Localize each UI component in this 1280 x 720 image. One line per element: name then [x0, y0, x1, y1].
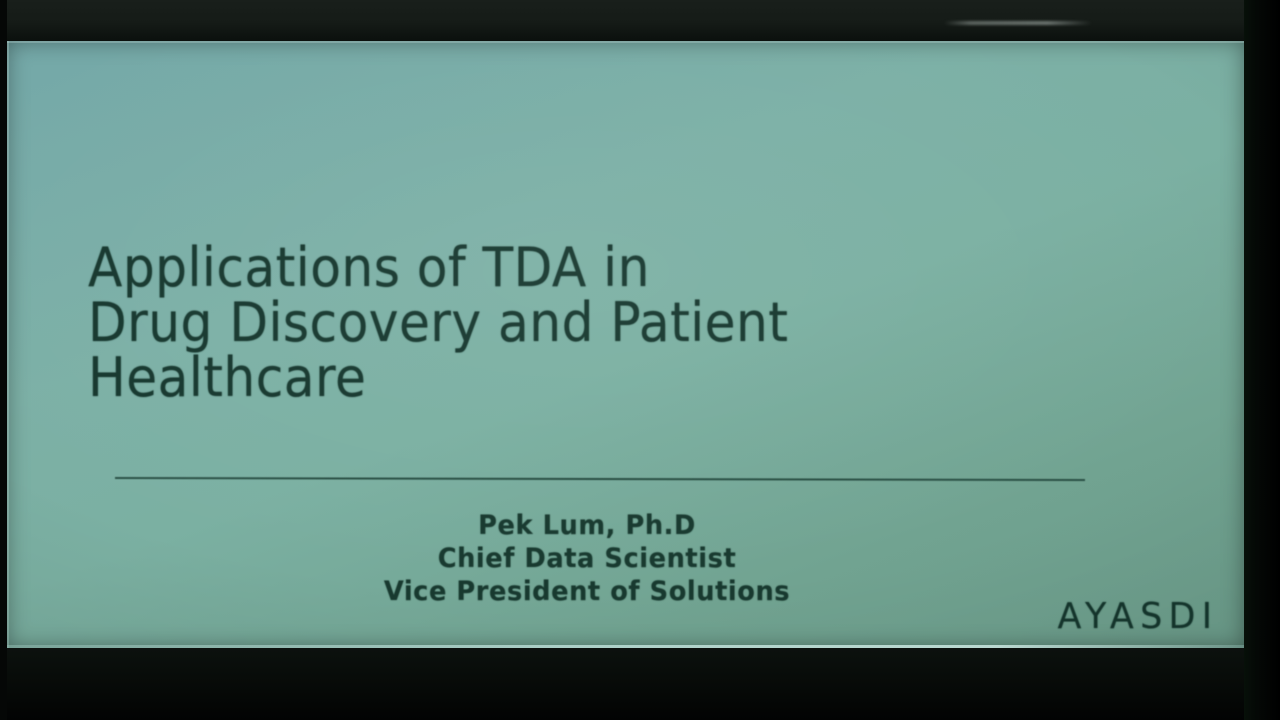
screen-bezel-right [1244, 0, 1280, 720]
screen-bezel-left [0, 0, 7, 720]
screen-bezel-bottom [0, 648, 1280, 720]
slide-edge-highlight-top [7, 41, 1244, 43]
presenter-name: Pek Lum, Ph.D [36, 509, 1138, 542]
presentation-slide: Applications of TDA in Drug Discovery an… [7, 41, 1244, 648]
slide-edge-highlight-bottom [7, 645, 1244, 648]
presenter-title-secondary: Vice President of Solutions [36, 575, 1138, 608]
presenter-byline: Pek Lum, Ph.D Chief Data Scientist Vice … [7, 509, 1167, 608]
ceiling-light-reflection [944, 21, 1092, 25]
ayasdi-logo: AYASDI [1058, 596, 1219, 637]
screenshot-root: Applications of TDA in Drug Discovery an… [0, 0, 1280, 720]
title-divider-rule [115, 477, 1085, 481]
presenter-title-primary: Chief Data Scientist [36, 542, 1138, 575]
slide-title-block: Applications of TDA in Drug Discovery an… [88, 240, 1118, 405]
slide-title: Applications of TDA in Drug Discovery an… [88, 240, 1046, 405]
